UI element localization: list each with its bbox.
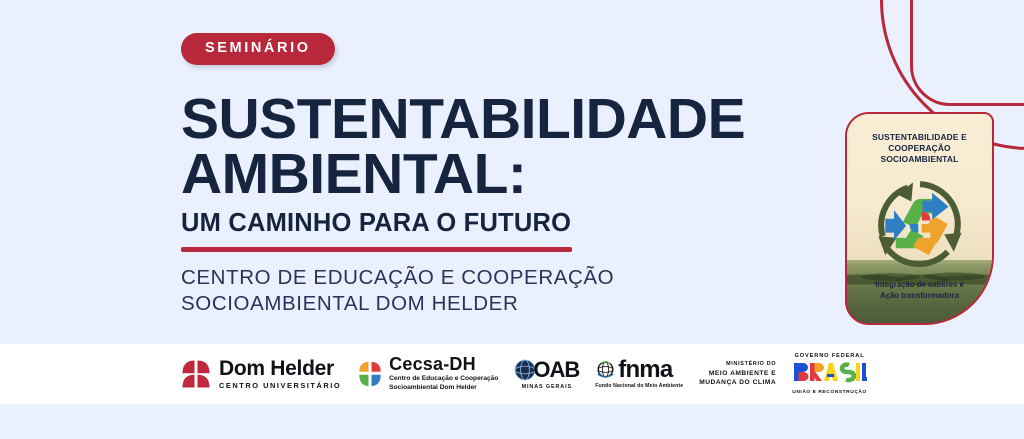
logo-cecsa-dh: Cecsa-DH Centro de Educação e Cooperação… xyxy=(357,355,498,392)
ministerio-line-1: MINISTÉRIO DO xyxy=(699,361,776,368)
logo-oab: OAB MINAS GERAIS xyxy=(514,359,579,390)
emblem-title: SUSTENTABILIDADE E COOPERAÇÃO SOCIOAMBIE… xyxy=(847,132,992,165)
seminar-pill-badge: SEMINÁRIO xyxy=(181,33,335,65)
hero-content: SEMINÁRIO SUSTENTABILIDADE AMBIENTAL: UM… xyxy=(181,0,821,317)
cecsa-subtitle: Centro de Educação e Cooperação Socioamb… xyxy=(389,375,498,392)
event-banner: SEMINÁRIO SUSTENTABILIDADE AMBIENTAL: UM… xyxy=(0,0,1024,439)
governo-federal-top-label: GOVERNO FEDERAL xyxy=(792,353,867,359)
dom-helder-mark-icon xyxy=(181,359,211,389)
emblem-tagline-line-2: Ação transformadora xyxy=(847,291,992,302)
oab-wordmark: OAB xyxy=(533,359,579,381)
logo-governo-federal: GOVERNO FEDERAL xyxy=(792,353,867,395)
fnma-subtitle: Fundo Nacional do Meio Ambiente xyxy=(595,383,683,389)
fnma-globe-icon xyxy=(595,360,616,381)
emblem-title-line-2: COOPERAÇÃO SOCIOAMBIENTAL xyxy=(853,143,986,165)
page-subtitle: UM CAMINHO PARA O FUTURO xyxy=(181,210,821,237)
cecsa-emblem-card: SUSTENTABILIDADE E COOPERAÇÃO SOCIOAMBIE… xyxy=(845,112,994,325)
cecsa-subtitle-line-1: Centro de Educação e Cooperação xyxy=(389,375,498,384)
organizer-line-1: CENTRO DE EDUCAÇÃO E COOPERAÇÃO xyxy=(181,265,821,291)
dom-helder-name: Dom Helder xyxy=(219,358,341,379)
cecsa-name: Cecsa-DH xyxy=(389,355,498,373)
organizer-name: CENTRO DE EDUCAÇÃO E COOPERAÇÃO SOCIOAMB… xyxy=(181,265,821,317)
sponsor-logo-bar: Dom Helder CENTRO UNIVERSITÁRIO Cecsa-DH… xyxy=(0,344,1024,404)
emblem-tagline-line-1: Integração de saberes e xyxy=(847,280,992,291)
ministerio-line-2: MEIO AMBIENTE E xyxy=(699,369,776,378)
logo-ministerio-meio-ambiente: MINISTÉRIO DO MEIO AMBIENTE E MUDANÇA DO… xyxy=(699,361,776,387)
organizer-line-2: SOCIOAMBIENTAL DOM HELDER xyxy=(181,291,821,317)
logo-fnma: fnma Fundo Nacional do Meio Ambiente xyxy=(595,359,683,389)
oab-subtitle: MINAS GERAIS xyxy=(514,384,579,390)
cecsa-subtitle-line-2: Socioambiental Dom Helder xyxy=(389,384,498,393)
red-divider-rule xyxy=(181,247,572,252)
fnma-wordmark: fnma xyxy=(618,359,672,381)
emblem-title-line-1: SUSTENTABILIDADE E xyxy=(853,132,986,143)
brasil-wordmark-icon xyxy=(793,361,867,383)
recycle-arrows-icon xyxy=(868,172,972,276)
page-title: SUSTENTABILIDADE AMBIENTAL: xyxy=(181,92,821,204)
title-line-2: AMBIENTAL: xyxy=(181,147,821,203)
dom-helder-subtitle: CENTRO UNIVERSITÁRIO xyxy=(219,382,341,389)
governo-federal-bottom-label: UNIÃO E RECONSTRUÇÃO xyxy=(792,390,867,395)
emblem-tagline: Integração de saberes e Ação transformad… xyxy=(847,280,992,302)
ministerio-line-3: MUDANÇA DO CLIMA xyxy=(699,378,776,387)
logo-dom-helder: Dom Helder CENTRO UNIVERSITÁRIO xyxy=(181,358,341,389)
red-frame-decoration xyxy=(910,0,1024,106)
title-line-1: SUSTENTABILIDADE xyxy=(181,87,745,151)
cecsa-mark-icon xyxy=(357,360,383,388)
